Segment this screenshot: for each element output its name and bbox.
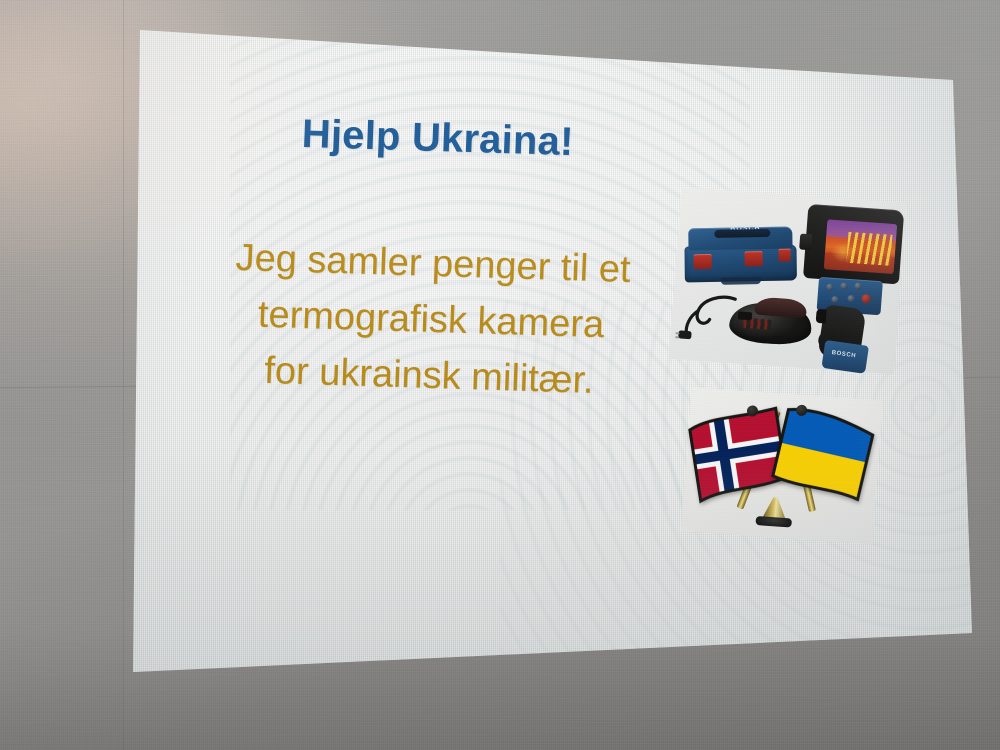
screenshot-stage: Hjelp Ukraina! Jeg samler penger til et … (0, 0, 1000, 750)
slide-edge-shadow (0, 0, 1000, 750)
projected-slide: Hjelp Ukraina! Jeg samler penger til et … (0, 0, 1000, 750)
